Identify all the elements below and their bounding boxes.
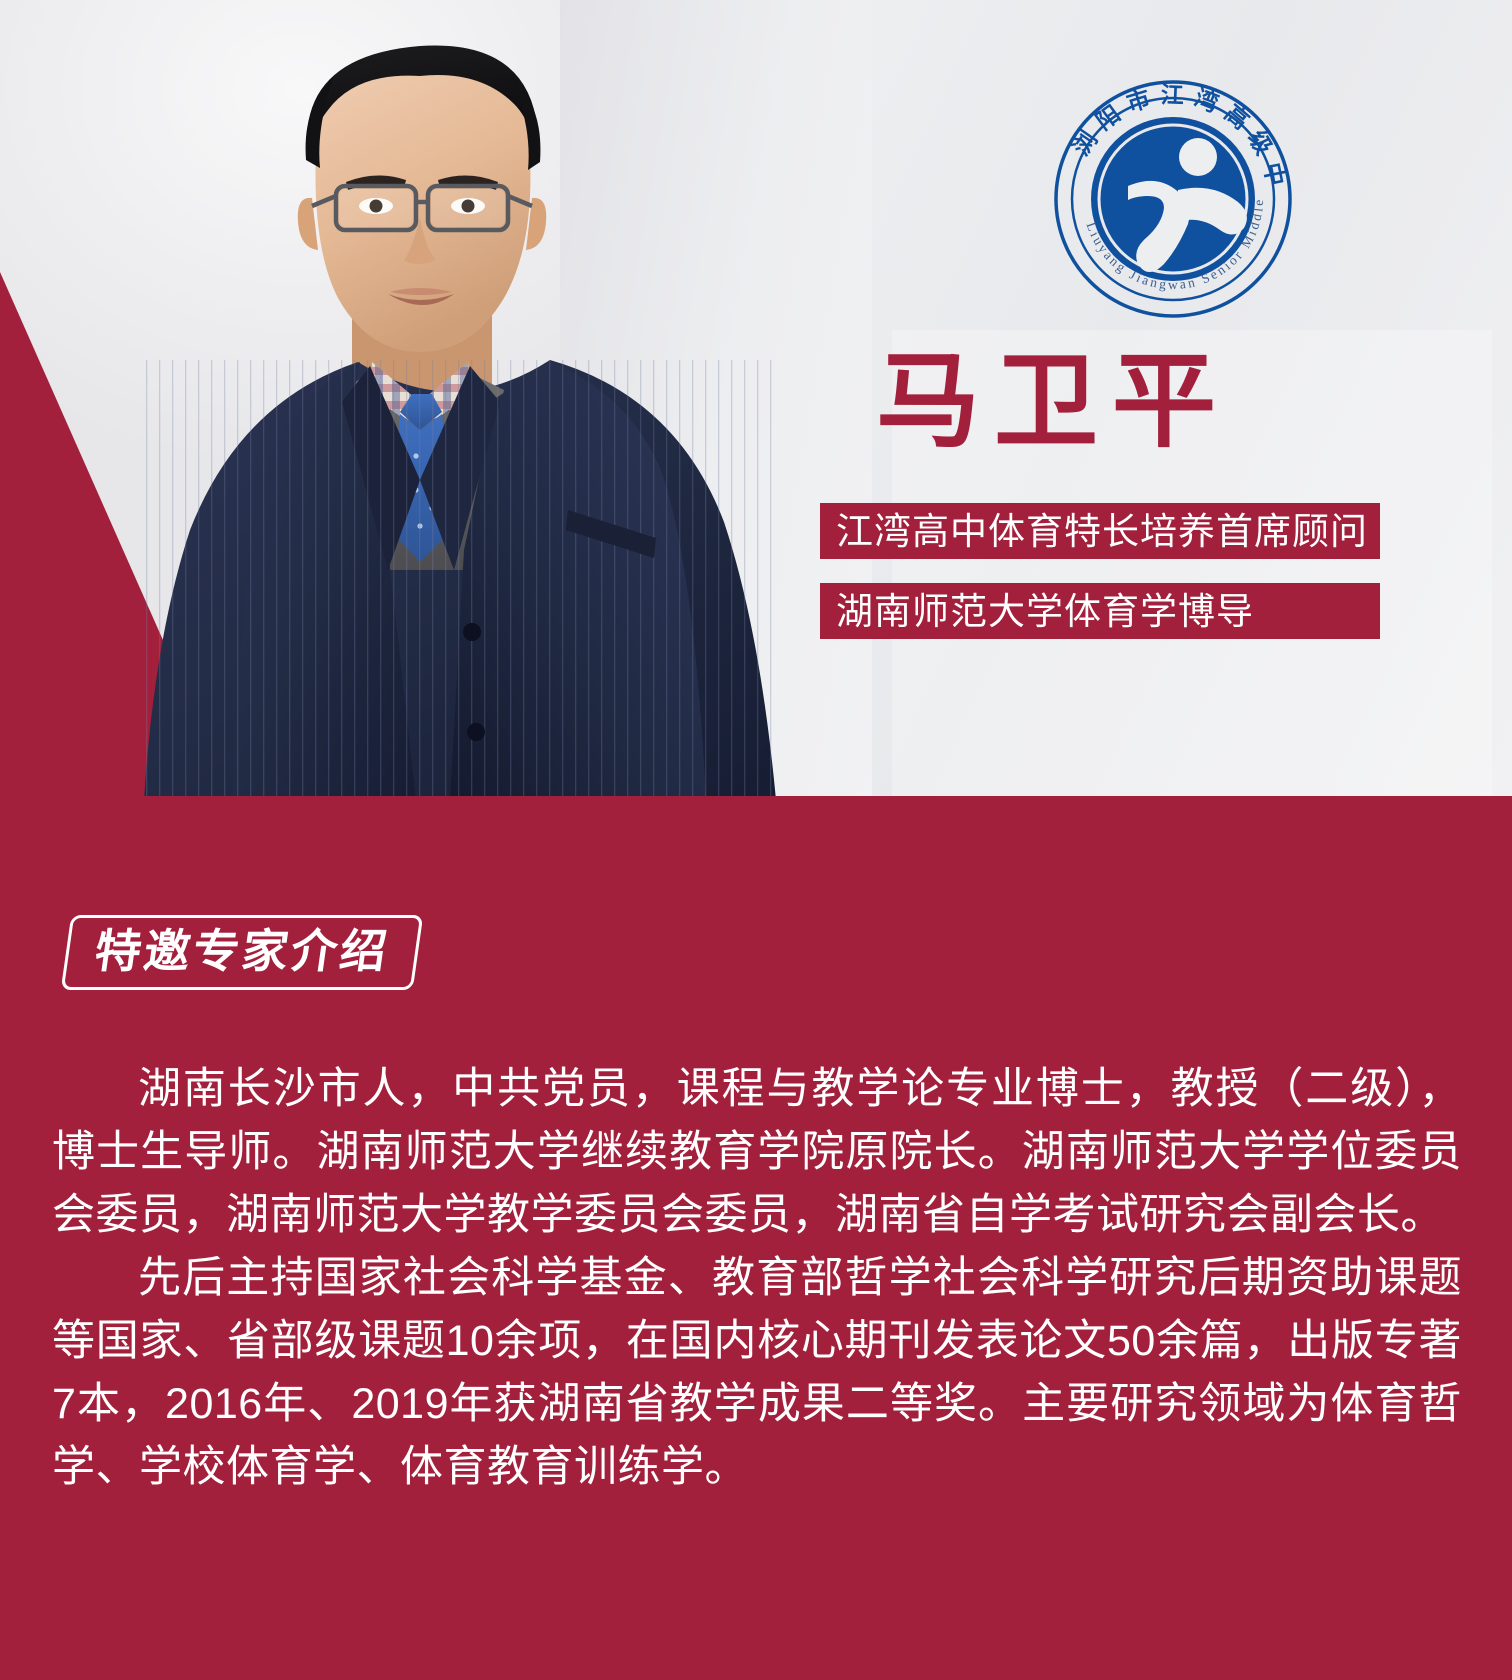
school-crest-logo: 浏阳市江湾高级中学 Liuyang Jiangwan Senior Middle… <box>1052 78 1294 320</box>
portrait-photo <box>120 10 800 796</box>
biography-text: 湖南长沙市人，中共党员，课程与教学论专业博士，教授（二级），博士生导师。湖南师范… <box>52 1058 1462 1499</box>
section-heading: 特邀专家介绍 <box>61 915 424 990</box>
biography-paragraph: 先后主持国家社会科学基金、教育部哲学社会科学研究后期资助课题等国家、省部级课题1… <box>52 1247 1462 1499</box>
biography-paragraph: 湖南长沙市人，中共党员，课程与教学论专业博士，教授（二级），博士生导师。湖南师范… <box>52 1058 1462 1247</box>
intro-section: 特邀专家介绍 湖南长沙市人，中共党员，课程与教学论专业博士，教授（二级），博士生… <box>0 796 1512 1680</box>
credential-badge-2: 湖南师范大学体育学博导 <box>820 583 1380 639</box>
page-title: 马卫平 <box>876 345 1230 461</box>
hero-section: 浏阳市江湾高级中学 Liuyang Jiangwan Senior Middle… <box>0 0 1512 796</box>
section-heading-label: 特邀专家介绍 <box>92 928 392 974</box>
credential-badge-1: 江湾高中体育特长培养首席顾问 <box>820 503 1380 559</box>
expert-profile-poster: 浏阳市江湾高级中学 Liuyang Jiangwan Senior Middle… <box>0 0 1512 1680</box>
